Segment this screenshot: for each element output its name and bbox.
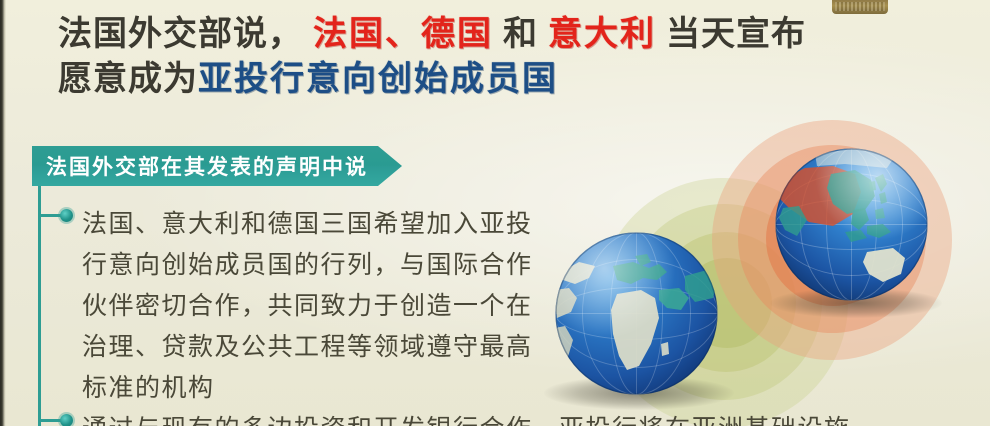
globe-asia-pacific — [775, 148, 928, 301]
bullet-dot-icon-2 — [60, 414, 73, 426]
headline-seg-1: 法国外交部说， — [58, 14, 303, 54]
headline-block: 法国外交部说，法国、德国和意大利当天宣布 愿意成为亚投行意向创始成员国 — [58, 12, 988, 102]
globe-europe-africa — [555, 232, 718, 395]
left-edge-strip — [0, 0, 6, 426]
headline-seg-6: 愿意成为 — [58, 59, 198, 99]
headline-line-2: 愿意成为亚投行意向创始成员国 — [58, 57, 988, 102]
top-decorative-artifact — [832, 0, 888, 14]
headline-seg-4-italy: 意大利 — [548, 14, 656, 54]
timeline-rail — [38, 186, 41, 426]
bullet-dot-icon-1 — [60, 209, 73, 222]
headline-seg-7-aiib: 亚投行意向创始成员国 — [198, 59, 558, 99]
section-banner-label: 法国外交部在其发表的声明中说 — [32, 146, 402, 186]
bullet-paragraph-2: 通过与现有的多边投资和开发银行合作，亚投行将在亚洲基础设施... — [82, 408, 982, 426]
bullet-paragraph-1: 法国、意大利和德国三国希望加入亚投行意向创始成员国的行列，与国际合作伙伴密切合作… — [82, 203, 552, 408]
headline-seg-5: 当天宣布 — [666, 14, 806, 54]
headline-line-1: 法国外交部说，法国、德国和意大利当天宣布 — [58, 12, 988, 57]
headline-seg-3: 和 — [503, 14, 538, 54]
infographic-canvas: 法国外交部说，法国、德国和意大利当天宣布 愿意成为亚投行意向创始成员国 法国外交… — [0, 0, 990, 426]
headline-seg-2-countries: 法国、德国 — [313, 14, 493, 54]
section-banner: 法国外交部在其发表的声明中说 — [32, 146, 402, 186]
